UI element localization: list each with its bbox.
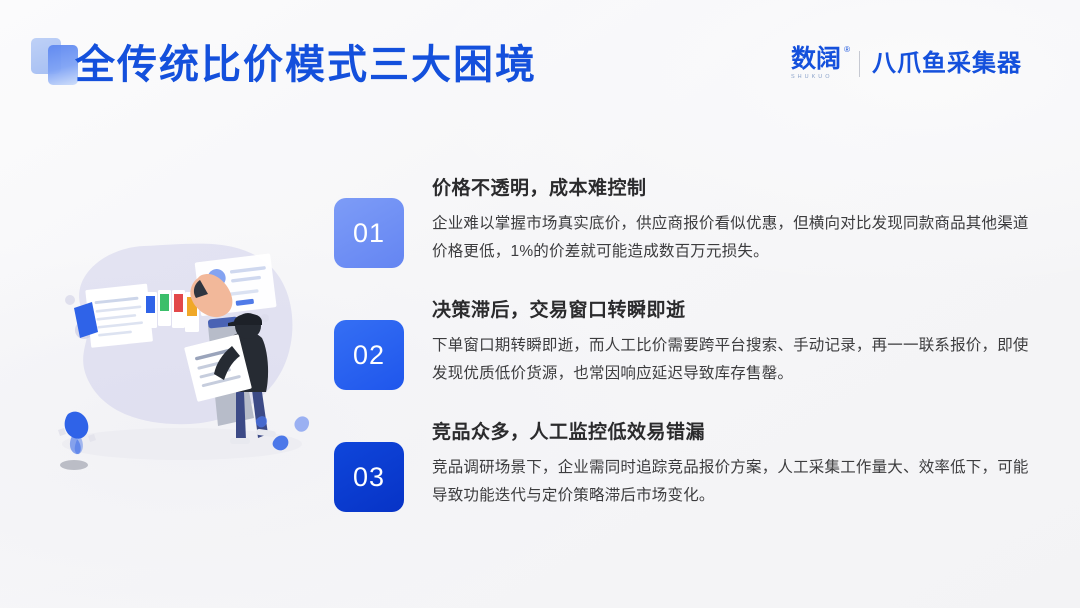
brand-company-name: 数阔 <box>791 45 841 73</box>
brand-divider <box>859 51 860 77</box>
point-number-badge: 02 <box>334 320 404 390</box>
price-comparison-illustration <box>22 222 322 472</box>
illustration-stone <box>60 460 88 470</box>
point-heading: 决策滞后，交易窗口转瞬即逝 <box>432 300 1046 323</box>
point-heading: 竞品众多，人工监控低效易错漏 <box>432 422 1046 445</box>
point-body: 下单窗口期转瞬即逝，而人工比价需要跨平台搜索、手动记录，再一一联系报价，即使发现… <box>432 332 1040 389</box>
brand-company-name-wrap: 数阔 ® <box>791 47 841 72</box>
brand-logo: 数阔 ® SHUKUO 八爪鱼采集器 <box>791 44 1022 84</box>
point-number-badge: 03 <box>334 442 404 512</box>
slide-header: 全传统比价模式三大困境 数阔 ® SHUKUO 八爪鱼采集器 <box>0 0 1080 118</box>
point-body: 竞品调研场景下，企业需同时追踪竞品报价方案，人工采集工作量大、效率低下，可能导致… <box>432 454 1040 511</box>
page-title: 全传统比价模式三大困境 <box>28 45 537 85</box>
illustration-dot <box>261 314 269 322</box>
list-item: 03 竞品众多，人工监控低效易错漏 竞品调研场景下，企业需同时追踪竞品报价方案，… <box>334 422 1046 522</box>
list-item: 02 决策滞后，交易窗口转瞬即逝 下单窗口期转瞬即逝，而人工比价需要跨平台搜索、… <box>334 300 1046 400</box>
points-list: 01 价格不透明，成本难控制 企业难以掌握市场真实底价，供应商报价看似优惠，但横… <box>334 178 1046 522</box>
illustration-paper-left <box>85 284 153 348</box>
point-number-badge: 01 <box>334 198 404 268</box>
point-body: 企业难以掌握市场真实底价，供应商报价看似优惠，但横向对比发现同款商品其他渠道价格… <box>432 210 1040 267</box>
slide-root: 全传统比价模式三大困境 数阔 ® SHUKUO 八爪鱼采集器 <box>0 0 1080 608</box>
title-block: 全传统比价模式三大困境 <box>28 34 537 96</box>
brand-product-name: 八爪鱼采集器 <box>872 52 1022 76</box>
brand-company-pinyin: SHUKUO <box>791 75 833 81</box>
point-heading: 价格不透明，成本难控制 <box>432 178 1046 201</box>
brand-company-mark: 数阔 ® SHUKUO <box>791 47 845 81</box>
illustration-confetti <box>294 416 309 431</box>
illustration-dot <box>65 295 75 305</box>
registered-trademark-icon: ® <box>844 46 850 54</box>
list-item: 01 价格不透明，成本难控制 企业难以掌握市场真实底价，供应商报价看似优惠，但横… <box>334 178 1046 278</box>
